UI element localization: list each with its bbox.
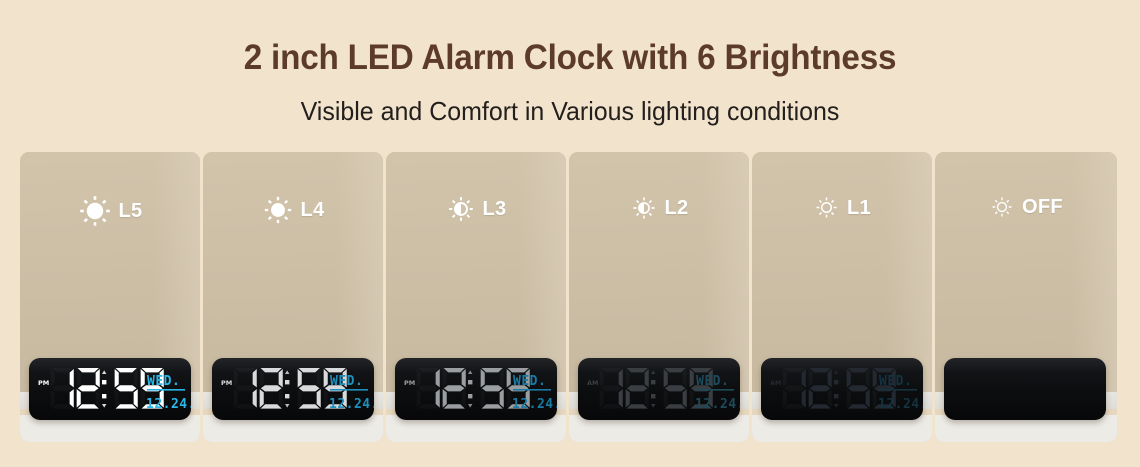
scene-wall <box>20 152 200 392</box>
svg-text:WED.: WED. <box>696 374 729 389</box>
sun-icon-half-dim <box>630 194 658 222</box>
alarm-clock: PMWED.12.24. <box>395 358 557 420</box>
svg-text:12.24.: 12.24. <box>695 397 740 412</box>
brightness-level-label: OFF <box>1022 197 1063 217</box>
scene-wall <box>203 152 383 392</box>
sun-icon-full <box>78 194 112 228</box>
brightness-panel-l2: L2AMWED.12.24. <box>569 152 749 442</box>
brightness-panel-l3: L3PMWED.12.24. <box>386 152 566 442</box>
led-display: PMWED.12.24. <box>212 358 374 420</box>
alarm-clock <box>944 358 1106 420</box>
brightness-level-label: L3 <box>483 199 507 219</box>
brightness-panel-strip: L5PMWED.12.24.L4PMWED.12.24.L3PMWED.12.2… <box>20 152 1120 442</box>
svg-text:WED.: WED. <box>330 374 363 389</box>
alarm-clock: AMWED.12.24. <box>578 358 740 420</box>
page-title: 2 inch LED Alarm Clock with 6 Brightness <box>29 38 1112 78</box>
page-subtitle: Visible and Comfort in Various lighting … <box>23 96 1117 127</box>
brightness-indicator: L3 <box>386 194 566 224</box>
sun-icon-half <box>446 194 476 224</box>
svg-text:12.24.: 12.24. <box>146 397 191 412</box>
alarm-clock: PMWED.12.24. <box>212 358 374 420</box>
product-brightness-infographic: 2 inch LED Alarm Clock with 6 Brightness… <box>0 0 1140 467</box>
brightness-indicator: L5 <box>20 194 200 228</box>
brightness-level-label: L1 <box>847 198 871 218</box>
brightness-indicator: L4 <box>203 194 383 226</box>
svg-text:PM: PM <box>38 379 49 387</box>
brightness-indicator: L2 <box>569 194 749 222</box>
svg-text:AM: AM <box>587 379 599 387</box>
svg-text:WED.: WED. <box>513 374 546 389</box>
svg-text:WED.: WED. <box>879 374 912 389</box>
brightness-indicator: L1 <box>752 194 932 221</box>
brightness-panel-off: OFF <box>935 152 1117 442</box>
svg-text:AM: AM <box>770 379 782 387</box>
svg-text:12.24.: 12.24. <box>329 397 374 412</box>
svg-text:PM: PM <box>221 379 232 387</box>
scene-wall <box>752 152 932 392</box>
led-display: AMWED.12.24. <box>578 358 740 420</box>
scene-wall <box>569 152 749 392</box>
brightness-panel-l1: L1AMWED.12.24. <box>752 152 932 442</box>
svg-text:PM: PM <box>404 379 415 387</box>
scene-wall <box>935 152 1117 392</box>
brightness-indicator: OFF <box>935 194 1117 220</box>
led-display: AMWED.12.24. <box>761 358 923 420</box>
sun-icon-bright <box>262 194 294 226</box>
alarm-clock: AMWED.12.24. <box>761 358 923 420</box>
svg-text:WED.: WED. <box>147 374 180 389</box>
scene-wall <box>386 152 566 392</box>
svg-text:12.24.: 12.24. <box>512 397 557 412</box>
brightness-panel-l5: L5PMWED.12.24. <box>20 152 200 442</box>
led-display: PMWED.12.24. <box>29 358 191 420</box>
brightness-level-label: L4 <box>301 200 325 220</box>
brightness-panel-l4: L4PMWED.12.24. <box>203 152 383 442</box>
sun-icon-outline <box>813 194 840 221</box>
brightness-level-label: L2 <box>665 198 689 218</box>
alarm-clock: PMWED.12.24. <box>29 358 191 420</box>
led-display: PMWED.12.24. <box>395 358 557 420</box>
svg-text:12.24.: 12.24. <box>878 397 923 412</box>
brightness-level-label: L5 <box>119 201 143 221</box>
sun-icon-off <box>989 194 1015 220</box>
led-display <box>944 358 1106 420</box>
